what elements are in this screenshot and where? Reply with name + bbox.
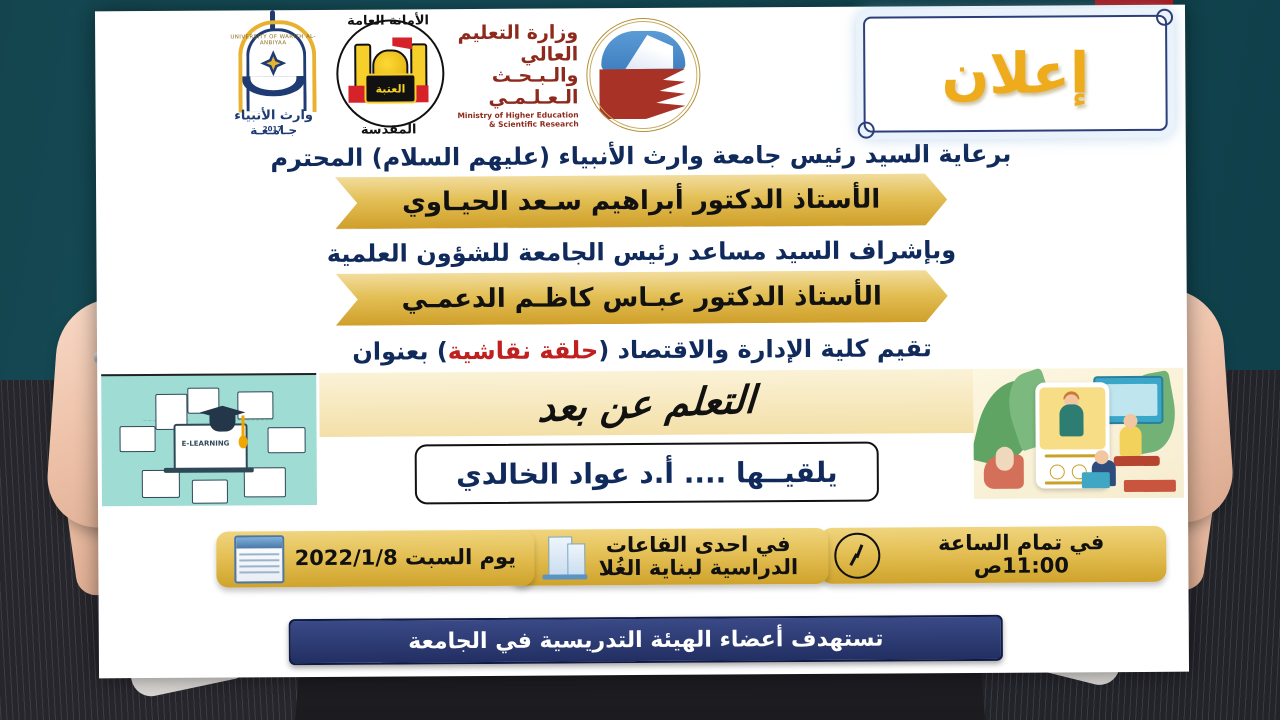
university-logo-name-ar: وارث الأنبياء	[221, 108, 327, 124]
laptop-icon	[1082, 472, 1110, 488]
middle-section: E-LEARNING التعلم عن بعد يلقيــها .... أ…	[97, 368, 1188, 527]
poster-header: UNIVERSITY OF WARITH AL-ANBIYAA وارث الأ…	[95, 5, 1186, 147]
ministry-name-english: Ministry of Higher Education & Scientifi…	[451, 111, 579, 129]
supervision-line: وبإشراف السيد مساعد رئيس الجامعة للشؤون …	[96, 236, 1186, 269]
audience-bar: تستهدف أعضاء الهيئة التدريسية في الجامعة	[289, 615, 1003, 665]
emblem-gold-ring	[589, 21, 698, 130]
seminar-title-area: التعلم عن بعد يلقيــها .... أ.د عواد الخ…	[319, 369, 974, 525]
page-title: إعلان	[941, 41, 1089, 107]
university-logo: UNIVERSITY OF WARITH AL-ANBIYAA وارث الأ…	[220, 14, 327, 140]
graduation-cap-crown	[209, 416, 235, 432]
audience-text: تستهدف أعضاء الهيئة التدريسية في الجامعة	[408, 626, 883, 654]
organizer-suffix: ) بعنوان	[352, 337, 448, 366]
student-figure	[996, 447, 1014, 471]
shrine-top-text: الأمانة العامة	[332, 13, 444, 29]
info-row: في تمام الساعة 11:00ص في احدى القاعات ال…	[98, 526, 1188, 597]
calendar-line	[240, 571, 280, 573]
date-box: يوم السبت 2022/1/8	[216, 530, 534, 588]
calendar-line	[240, 565, 280, 567]
online-class-illustration	[973, 368, 1184, 499]
ministry-name-line1: وزارة التعليم العالي	[450, 22, 578, 66]
forward-icon	[1050, 465, 1065, 480]
calendar-line	[240, 559, 280, 561]
device-node	[120, 426, 156, 452]
speaker-line: يلقيــها .... أ.د عواد الخالدي	[456, 455, 838, 490]
books-stack	[1124, 480, 1176, 492]
place-line-1: في احدى القاعات	[606, 532, 791, 557]
university-logo-year: 2017	[263, 125, 283, 133]
shrine-bottom-text: المقدسة	[333, 122, 445, 138]
place-box: في احدى القاعات الدراسية لبناية الغُلا	[510, 528, 828, 586]
building-tower	[567, 544, 585, 579]
device-node	[268, 427, 306, 453]
e-learning-label: E-LEARNING	[182, 440, 230, 448]
calendar-line	[240, 553, 280, 555]
e-learning-infographic: E-LEARNING	[101, 373, 317, 506]
time-text: في تمام الساعة 11:00ص	[890, 531, 1152, 580]
ministry-logo: وزارة التعليم العالي والـبـحـث الـعـلـمـ…	[450, 12, 701, 140]
laptop-icon: E-LEARNING	[173, 424, 247, 472]
organizer-line: تقيم كلية الإدارة والاقتصاد (حلقة نقاشية…	[97, 333, 1187, 366]
building-base	[543, 575, 588, 580]
date-text: يوم السبت 2022/1/8	[295, 546, 516, 571]
progress-bar	[1045, 454, 1101, 457]
tassel-icon	[241, 416, 244, 438]
announcement-title-box: إعلان	[863, 15, 1168, 133]
student-figure	[1120, 426, 1142, 456]
calendar-icon	[235, 535, 285, 583]
shrine-center-text: العتبة	[364, 73, 416, 103]
supervisor-name-ribbon: الأستاذ الدكتور عبـاس كاظـم الدعمـي	[336, 270, 948, 326]
supervisor-name: الأستاذ الدكتور عبـاس كاظـم الدعمـي	[402, 281, 882, 314]
teacher-body	[1059, 404, 1083, 436]
husseini-shrine-logo: الأمانة العامة العتبة المقدسة	[332, 13, 445, 140]
logo-group: UNIVERSITY OF WARITH AL-ANBIYAA وارث الأ…	[220, 12, 701, 141]
clock-icon	[834, 533, 880, 579]
laptop-base	[164, 468, 254, 474]
organizer-highlight: حلقة نقاشية	[448, 336, 599, 365]
desk	[1114, 456, 1160, 466]
patron-name: الأستاذ الدكتور أبراهيم سـعد الحيـاوي	[402, 185, 880, 218]
announcement-poster: UNIVERSITY OF WARITH AL-ANBIYAA وارث الأ…	[95, 5, 1189, 679]
place-text: في احدى القاعات الدراسية لبناية الغُلا	[598, 533, 798, 581]
star-emblem-icon	[258, 48, 288, 78]
organizer-prefix: تقيم كلية الإدارة والاقتصاد (	[598, 334, 932, 364]
time-box: في تمام الساعة 11:00ص	[820, 526, 1166, 584]
seminar-title-band: التعلم عن بعد	[319, 369, 973, 437]
building-icon	[540, 535, 588, 581]
speaker-box: يلقيــها .... أ.د عواد الخالدي	[415, 442, 879, 505]
place-line-2: الدراسية لبناية الغُلا	[599, 555, 799, 580]
ministry-emblem-icon	[586, 18, 701, 133]
ministry-name-line2: والـبـحـث الـعـلـمـي	[450, 66, 578, 110]
patron-name-ribbon: الأستاذ الدكتور أبراهيم سـعد الحيـاوي	[335, 174, 947, 230]
seminar-title: التعلم عن بعد	[536, 376, 756, 430]
device-node	[142, 470, 180, 498]
device-node	[192, 480, 228, 504]
